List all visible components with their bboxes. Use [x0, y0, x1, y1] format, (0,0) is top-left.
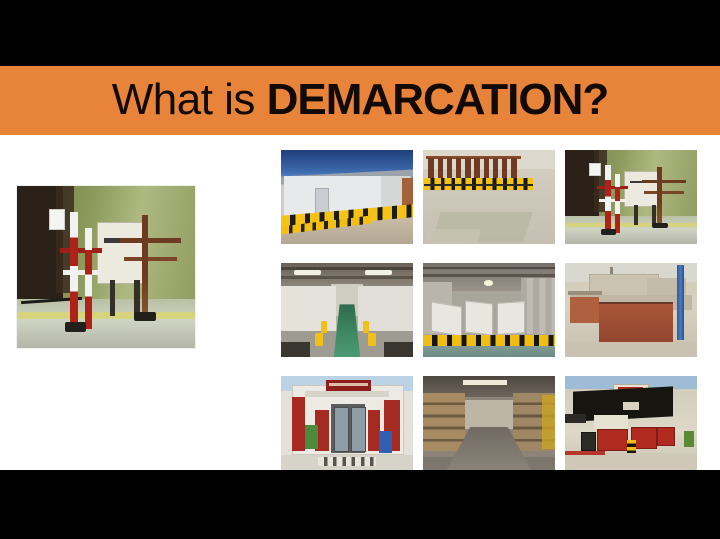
scene-panel-leg-right: [134, 280, 139, 316]
scene-bollard: [315, 333, 323, 346]
scene-partition-slab: [465, 301, 493, 336]
scene-brown-rail-upper: [120, 238, 181, 243]
scene-red-post-base: [601, 229, 617, 235]
scene-red-post-two: [85, 228, 92, 328]
scene-green-unit: [684, 431, 695, 448]
scene-red-container: [657, 427, 675, 446]
scene-back-wall: [463, 400, 516, 428]
scene-bollard: [321, 321, 328, 332]
gallery-thumb-1-scene: [281, 150, 413, 244]
scene-left-wall: [570, 297, 599, 323]
gallery-thumb-2: [423, 150, 555, 244]
hero-photo-scene: [17, 186, 195, 348]
scene-back-wall: [423, 150, 555, 169]
scene-ground: [565, 342, 697, 357]
gallery-thumb-7-scene: [281, 376, 413, 470]
gallery-thumb-8: [423, 376, 555, 470]
scene-blue-column: [677, 265, 684, 340]
scene-striped-bollard: [627, 440, 636, 453]
scene-panel-leg-left: [110, 280, 115, 316]
scene-control-panel: [624, 171, 660, 208]
gallery-thumb-2-scene: [423, 150, 555, 244]
scene-control-panel: [97, 222, 145, 284]
scene-brown-post-base: [134, 312, 155, 321]
scene-rack-left: [423, 393, 465, 451]
scene-red-post-one: [70, 212, 78, 329]
scene-canopy-plate: [623, 402, 639, 410]
scene-green-cabinet: [305, 425, 318, 449]
scene-railing: [568, 291, 602, 295]
scene-white-panel: [594, 415, 628, 428]
scene-floor-marking: [17, 312, 195, 318]
scene-red-panel: [292, 397, 305, 452]
gallery-thumb-6: [565, 263, 697, 357]
scene-entry-step: [318, 457, 376, 466]
scene-floor: [423, 346, 555, 357]
scene-floor: [565, 216, 697, 244]
scene-wall-sign: [49, 209, 65, 230]
slide-title-band: What is DEMARCATION?: [0, 66, 720, 135]
page-title: What is DEMARCATION?: [112, 78, 609, 122]
thumbnail-grid: [281, 150, 703, 466]
scene-right-wall: [521, 278, 555, 334]
scene-rafter: [423, 274, 555, 276]
scene-red-kerb: [565, 451, 605, 455]
scene-brown-post: [657, 167, 661, 225]
scene-brown-rail-lower: [644, 191, 684, 193]
scene-foreground-right: [384, 342, 413, 357]
scene-red-post-base: [65, 322, 86, 332]
gallery-thumb-3-scene: [565, 150, 697, 244]
scene-ground-patch-secondary: [424, 229, 481, 244]
scene-shop-sign: [326, 380, 371, 391]
scene-red-container: [597, 429, 628, 452]
scene-left-partition: [281, 286, 336, 335]
scene-red-post-two: [615, 174, 620, 232]
gallery-thumb-5: [423, 263, 555, 357]
scene-glass-door: [351, 407, 366, 452]
scene-roof-beam: [281, 276, 413, 279]
scene-left-barrier: [565, 414, 586, 423]
scene-blue-bin: [379, 431, 392, 454]
gallery-thumb-9: [565, 376, 697, 470]
scene-awning: [305, 391, 389, 397]
scene-red-rail-upper: [597, 186, 629, 189]
scene-rafter: [423, 267, 555, 269]
scene-brown-rail-lower: [124, 257, 177, 261]
gallery-thumb-4: [281, 263, 413, 357]
page-title-keyword: DEMARCATION?: [267, 75, 609, 124]
slide-frame: What is DEMARCATION?: [0, 0, 720, 539]
scene-foreground-left: [281, 342, 310, 357]
scene-red-post-one: [605, 165, 611, 233]
scene-cabin-1: [284, 176, 309, 217]
scene-brown-post: [142, 215, 148, 315]
gallery-thumb-4-scene: [281, 263, 413, 357]
scene-fence-rail: [424, 184, 532, 186]
scene-rack-upright: [542, 395, 555, 450]
scene-ceiling-lamp: [484, 280, 493, 286]
scene-floor-marking: [565, 223, 697, 227]
scene-red-rail-lower: [63, 270, 99, 275]
scene-panel-leg-left: [634, 205, 638, 226]
gallery-thumb-9-scene: [565, 376, 697, 470]
scene-ground: [565, 453, 697, 470]
scene-skylight: [463, 380, 508, 386]
scene-partition-slab: [431, 302, 462, 338]
scene-brown-post-base: [652, 223, 668, 228]
letterbox-top-bar: [0, 0, 720, 66]
slide-canvas: What is DEMARCATION?: [0, 66, 720, 470]
scene-partition-slab: [497, 301, 525, 335]
scene-glass-door: [334, 407, 349, 452]
gallery-thumb-6-scene: [565, 263, 697, 357]
gallery-thumb-7: [281, 376, 413, 470]
gallery-thumb-8-scene: [423, 376, 555, 470]
scene-bollard: [363, 321, 370, 332]
letterbox-bottom-bar: [0, 470, 720, 539]
gallery-thumb-1: [281, 150, 413, 244]
page-title-prefix: What is: [112, 75, 267, 124]
scene-panel-leg-right: [652, 205, 656, 226]
scene-brown-rail-upper: [642, 180, 687, 183]
hero-photo: [17, 186, 195, 348]
gallery-thumb-3: [565, 150, 697, 244]
scene-wall-sign: [589, 163, 602, 176]
scene-brick-wall: [599, 304, 673, 343]
scene-red-rail-lower: [599, 199, 625, 202]
scene-floor: [17, 299, 195, 348]
gallery-thumb-5-scene: [423, 263, 555, 357]
scene-red-rail-upper: [60, 248, 103, 254]
scene-ceiling-light: [294, 270, 320, 276]
scene-ceiling-light: [365, 270, 391, 276]
scene-dark-container: [581, 432, 596, 451]
scene-bollard: [368, 333, 376, 346]
